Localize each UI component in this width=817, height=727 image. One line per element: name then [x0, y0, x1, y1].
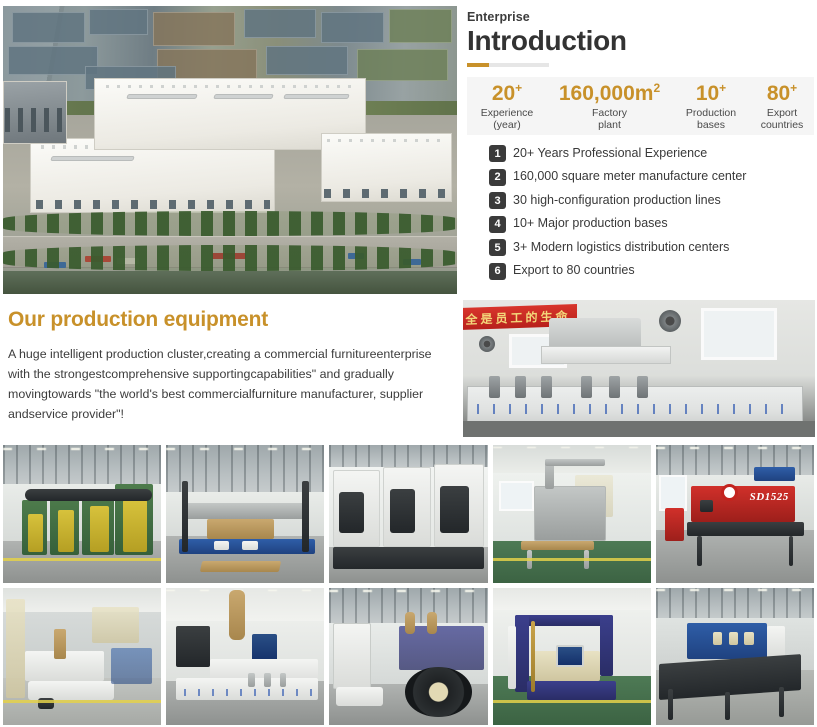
stat-label: Experience (year) — [469, 107, 545, 131]
stat-number: 20 — [492, 82, 515, 105]
list-item-label: 20+ Years Professional Experience — [513, 147, 707, 161]
aerial-canal — [3, 271, 457, 294]
roof-ridge — [127, 94, 199, 99]
aerial-pond — [244, 9, 317, 38]
workpiece-clamp — [280, 673, 286, 687]
stat-value: 20+ — [469, 82, 545, 105]
introduction-panel: Enterprise Introduction 20+ Experience (… — [463, 0, 817, 296]
extraction-booth-body — [534, 486, 607, 541]
aerial-factory-photo — [3, 6, 457, 294]
stat-label-line2: (year) — [493, 119, 520, 131]
list-item-number-badge: 6 — [489, 263, 506, 280]
machine-base-skirt — [333, 547, 485, 569]
workpiece-clamp — [541, 376, 552, 398]
workpiece-clamp — [637, 376, 648, 398]
aerial-field — [153, 12, 235, 47]
list-item: 5 3+ Modern logistics distribution cente… — [489, 239, 813, 256]
press-upper-platen — [185, 503, 308, 520]
machine-decal-stripe — [179, 689, 315, 696]
aerial-building-right — [321, 133, 453, 202]
stat-label-line2: bases — [697, 119, 725, 131]
gantry-right-column — [600, 615, 613, 676]
list-item-number-badge: 1 — [489, 145, 506, 162]
stat-factory-plant: 160,000m2 Factory plant — [547, 82, 672, 131]
aerial-building-office — [3, 81, 67, 144]
title-underline-rule — [467, 63, 549, 67]
stat-experience: 20+ Experience (year) — [467, 82, 547, 131]
steel-coil — [405, 667, 471, 717]
intro-eyebrow: Enterprise — [467, 10, 813, 24]
wood-bench-board — [521, 541, 594, 549]
table-leg — [668, 689, 673, 719]
ceiling-lights — [166, 448, 324, 450]
press-guard — [123, 500, 147, 552]
section-paragraph: A huge intelligent production cluster,cr… — [8, 344, 450, 424]
workpiece-clamp — [264, 673, 270, 687]
equipment-text-block: Our production equipment A huge intellig… — [0, 300, 460, 440]
control-button-panel — [744, 632, 753, 646]
machine-decal-stripe — [471, 404, 791, 414]
workpiece-clamp — [515, 376, 526, 398]
control-button-panel — [729, 632, 738, 646]
coil-feeder-machine-photo — [329, 588, 487, 726]
workshop-roof — [656, 588, 814, 621]
edge-banding-line-photo — [166, 588, 324, 726]
workshop-roof — [166, 588, 324, 624]
aerial-pond — [12, 12, 85, 44]
aerial-pond — [321, 12, 385, 44]
stat-label-line1: Export — [767, 107, 797, 119]
list-item-label: 160,000 square meter manufacture center — [513, 170, 746, 184]
ceiling-lights — [3, 448, 161, 450]
stat-number: 160,000m — [559, 82, 654, 105]
control-panel-screen — [700, 500, 713, 512]
dust-hose — [229, 590, 245, 640]
roof-ridge — [50, 156, 134, 161]
list-item-number-badge: 4 — [489, 216, 506, 233]
dust-hose — [427, 612, 436, 634]
table-leg — [697, 536, 702, 566]
ceiling-lights — [329, 590, 487, 592]
press-guard — [58, 510, 74, 553]
aerial-field — [389, 9, 453, 44]
workshop-roof — [3, 445, 161, 489]
machine-base — [527, 681, 616, 700]
brand-logo-badge — [721, 484, 738, 501]
list-item-number-badge: 3 — [489, 192, 506, 209]
workshop-roof — [166, 445, 324, 495]
cnc-router-photo — [3, 588, 161, 726]
wall-fan-icon — [659, 310, 681, 332]
building-windows — [324, 189, 448, 198]
blue-shearing-machine-photo — [656, 588, 814, 726]
control-cabinet — [111, 648, 152, 684]
stat-superscript: + — [790, 81, 797, 95]
page-title: Introduction — [467, 25, 813, 56]
workpiece-clamp — [581, 376, 592, 398]
building-windows — [36, 200, 269, 209]
press-guard — [90, 506, 109, 553]
cabinet-door-window — [440, 486, 468, 533]
side-control-cabinet — [767, 626, 786, 659]
aerial-trees-lower — [3, 245, 457, 271]
stat-value: 80+ — [752, 82, 812, 105]
list-item: 3 30 high-configuration production lines — [489, 192, 813, 209]
roof-ridge — [283, 94, 349, 99]
enterprise-introduction-page: Enterprise Introduction 20+ Experience (… — [0, 0, 817, 727]
stat-label-line1: Experience — [481, 107, 534, 119]
table-leg — [789, 536, 794, 566]
roof-vents — [106, 85, 355, 89]
cabinet-door-window — [339, 492, 364, 533]
stat-superscript: + — [719, 81, 726, 95]
workpiece-clamp — [609, 376, 620, 398]
work-table — [687, 522, 804, 536]
dust-hose — [54, 629, 67, 659]
list-item-number-badge: 2 — [489, 169, 506, 186]
stat-label-line2: countries — [761, 119, 804, 131]
dust-extraction-booth-photo — [493, 445, 651, 583]
list-item: 2 160,000 square meter manufacture cente… — [489, 169, 813, 186]
aerial-trees-upper — [3, 211, 457, 237]
stat-value: 10+ — [674, 82, 748, 105]
workshop-floor — [463, 421, 815, 437]
table-leg — [779, 687, 784, 717]
plastic-strip-curtain — [6, 599, 25, 698]
control-button-panel — [713, 632, 722, 646]
control-cabinet — [176, 626, 211, 667]
stat-label: Factory plant — [549, 107, 670, 131]
stat-label: Export countries — [752, 107, 812, 131]
roller-module — [242, 541, 258, 549]
aerial-pond — [266, 46, 348, 75]
stat-label-line2: plant — [598, 119, 621, 131]
floor-safety-line — [493, 700, 651, 703]
top-section: Enterprise Introduction 20+ Experience (… — [0, 0, 817, 296]
floor-safety-line — [493, 558, 651, 561]
workshop-window — [659, 475, 687, 511]
linear-rail — [531, 621, 536, 693]
hot-press-machine-photo — [166, 445, 324, 583]
support-column — [182, 481, 188, 553]
wall-fan-icon — [479, 336, 495, 352]
building-windows — [5, 108, 64, 133]
hmi-screen — [556, 645, 584, 667]
workshop-window — [701, 308, 777, 360]
stat-number: 10 — [696, 82, 719, 105]
white-coating-line-photo — [329, 445, 487, 583]
stat-superscript: + — [515, 81, 522, 95]
stat-number: 80 — [767, 82, 790, 105]
equipment-photo-grid: SD1525 — [3, 445, 814, 725]
list-item: 1 20+ Years Professional Experience — [489, 145, 813, 162]
table-leg — [725, 692, 730, 720]
cnc-turret-punch-photo: SD1525 — [656, 445, 814, 583]
panel-stack — [207, 519, 273, 538]
workpiece-clamp — [489, 376, 500, 398]
stat-label-line1: Factory — [592, 107, 627, 119]
stat-value: 160,000m2 — [549, 82, 670, 105]
punch-press-line-photo — [3, 445, 161, 583]
pallet-stack — [336, 687, 383, 706]
stat-export-countries: 80+ Export countries — [750, 82, 814, 131]
aerial-pond — [89, 9, 148, 35]
workpiece-clamp — [248, 673, 254, 687]
section-title: Our production equipment — [8, 308, 452, 332]
support-column — [302, 481, 308, 553]
roller-module — [214, 541, 230, 549]
press-motor-row — [25, 489, 152, 501]
ceiling-lights — [166, 590, 324, 592]
overhead-blue-unit — [754, 467, 795, 481]
workshop-window — [499, 481, 534, 511]
stat-superscript: 2 — [653, 81, 660, 95]
control-cabinet — [665, 508, 684, 541]
booth-gantry-beam — [545, 459, 605, 466]
feature-list: 1 20+ Years Professional Experience 2 16… — [467, 145, 813, 280]
list-item-label: 30 high-configuration production lines — [513, 194, 721, 208]
roof-ridge — [213, 94, 274, 99]
spindle-beam — [541, 346, 671, 364]
wood-panel-on-floor — [200, 561, 281, 572]
control-cabinet — [333, 623, 371, 689]
stat-label-line1: Production — [686, 107, 736, 119]
list-item: 4 10+ Major production bases — [489, 216, 813, 233]
machine-model-label: SD1525 — [750, 491, 789, 503]
floor-safety-line — [3, 558, 161, 561]
list-item-label: 3+ Modern logistics distribution centers — [513, 241, 729, 255]
ceiling-lights — [493, 447, 651, 449]
hmi-screen — [252, 634, 277, 662]
cnc-machining-center-photo: 全是员工的生命 — [463, 300, 815, 437]
list-item-number-badge: 5 — [489, 239, 506, 256]
list-item-label: Export to 80 countries — [513, 264, 635, 278]
gantry-top-beam — [515, 615, 613, 626]
cabinet-door-window — [390, 489, 415, 533]
floor-safety-line — [3, 700, 161, 703]
pneumatic-cylinder — [508, 626, 516, 689]
ceiling-lights — [656, 589, 814, 591]
aerial-field — [357, 49, 448, 81]
list-item: 6 Export to 80 countries — [489, 263, 813, 280]
stats-bar: 20+ Experience (year) 160,000m2 Factory … — [467, 77, 814, 135]
stat-label: Production bases — [674, 107, 748, 131]
list-item-label: 10+ Major production bases — [513, 217, 668, 231]
dust-hose — [405, 612, 414, 634]
blue-gantry-machine-photo — [493, 588, 651, 726]
roof-vents — [327, 139, 446, 142]
plastic-strip-curtain — [92, 607, 139, 643]
press-guard — [28, 514, 42, 553]
stat-production-bases: 10+ Production bases — [672, 82, 750, 131]
shearing-machine-body — [687, 623, 766, 659]
ceiling-lights — [656, 447, 814, 449]
